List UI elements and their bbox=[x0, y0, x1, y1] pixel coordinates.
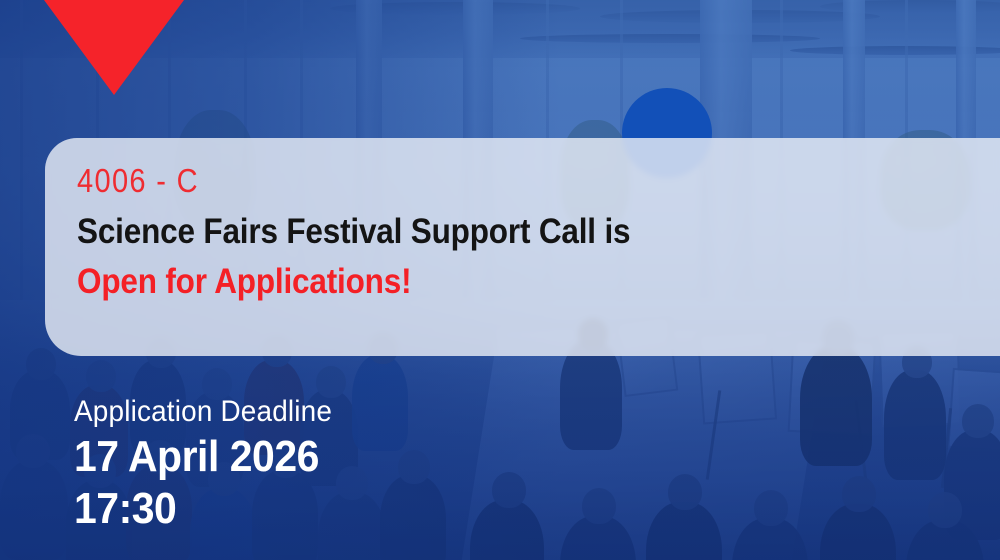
promo-banner: 4006 - C Science Fairs Festival Support … bbox=[0, 0, 1000, 560]
announcement-card: 4006 - C Science Fairs Festival Support … bbox=[45, 138, 1000, 356]
call-code: 4006 - C bbox=[77, 164, 889, 197]
deadline-label: Application Deadline bbox=[74, 396, 502, 428]
deadline-block: Application Deadline 17 April 2026 17:30 bbox=[74, 396, 534, 532]
call-title-line-2: Open for Applications! bbox=[77, 261, 908, 302]
call-title-line-1: Science Fairs Festival Support Call is bbox=[77, 211, 908, 252]
red-triangle-icon bbox=[44, 0, 184, 95]
deadline-time: 17:30 bbox=[74, 486, 502, 532]
deadline-date: 17 April 2026 bbox=[74, 434, 502, 480]
